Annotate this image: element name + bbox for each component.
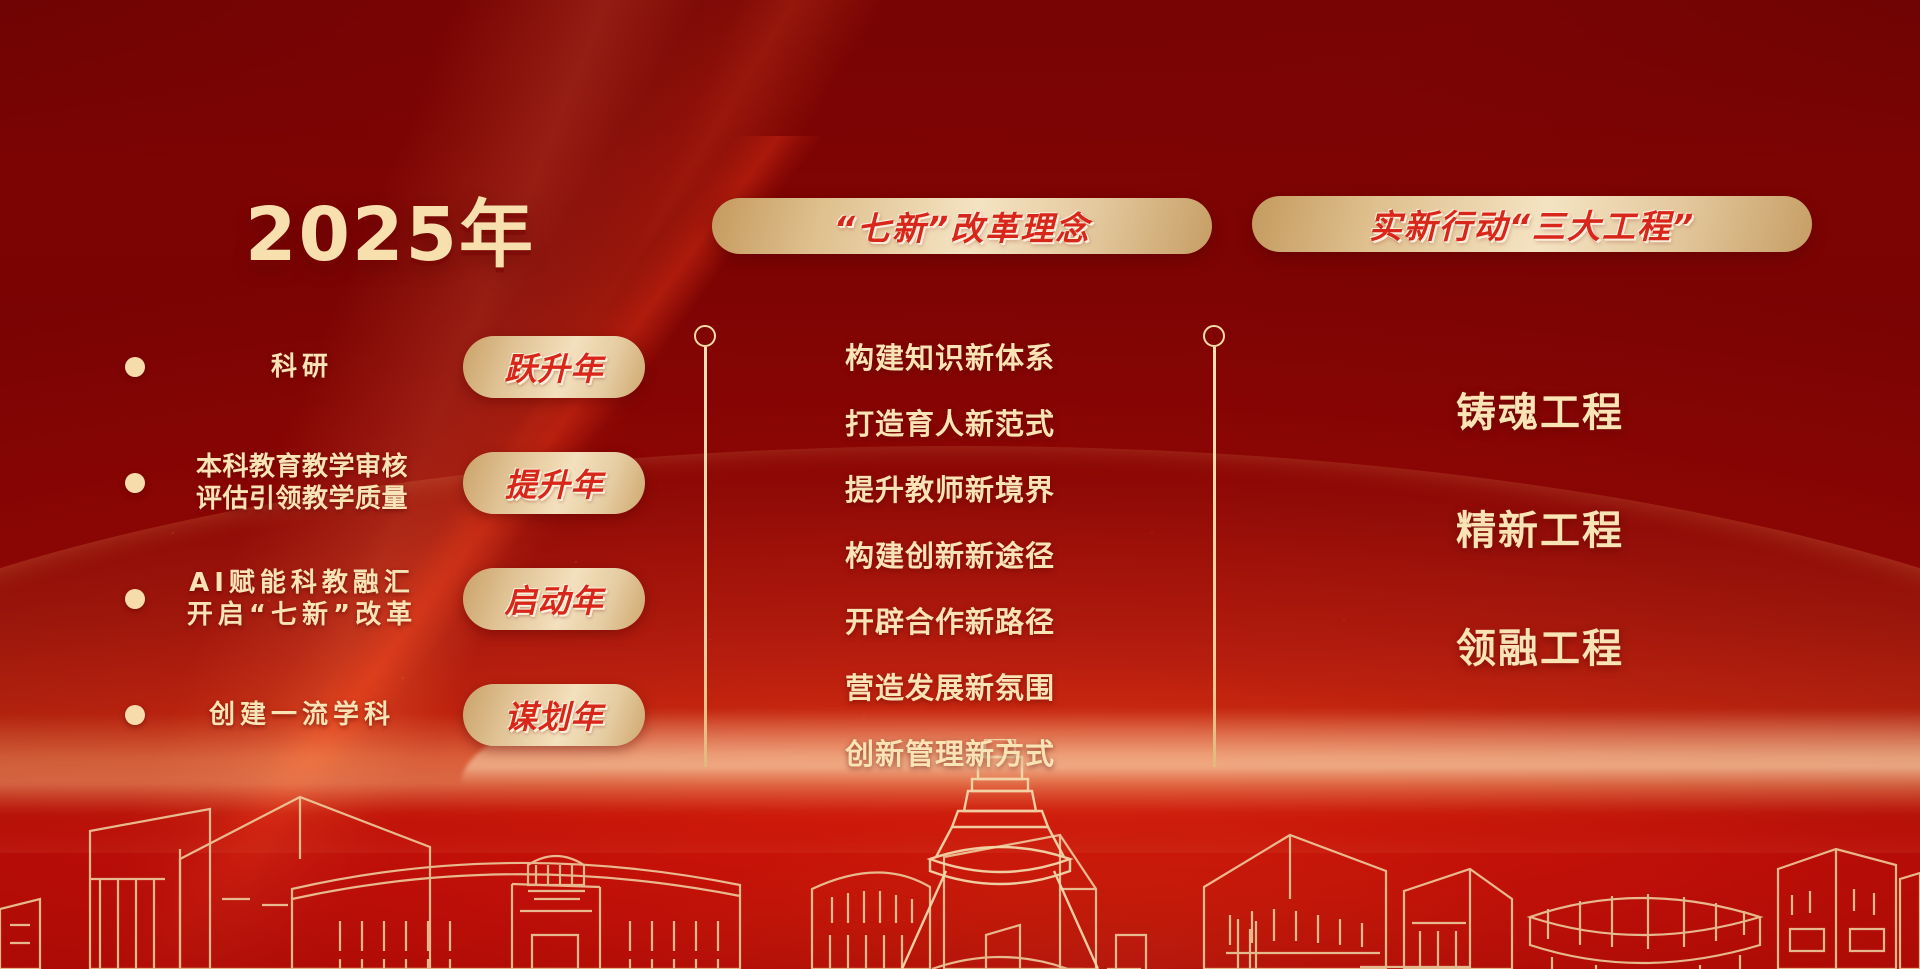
list-item-label: 科研 — [155, 351, 449, 383]
divider-right — [1203, 325, 1225, 767]
list-item[interactable]: 创新管理新方式 — [820, 721, 1080, 787]
list-item[interactable]: 精新工程 — [1400, 503, 1680, 559]
status-badge-label: 跃升年 — [504, 344, 603, 390]
list-item[interactable]: 构建知识新体系 — [820, 325, 1080, 391]
list-item-line2: 评估引领教学质量 — [155, 483, 449, 515]
list-item-line1: 科研 — [155, 351, 449, 383]
list-item[interactable]: 提升教师新境界 — [820, 457, 1080, 523]
list-item[interactable]: 科研 跃升年 — [125, 335, 645, 399]
list-item[interactable]: 打造育人新范式 — [820, 391, 1080, 457]
list-item[interactable]: 领融工程 — [1400, 621, 1680, 677]
list-item-line1: AI赋能科教融汇 — [155, 567, 449, 599]
page-title: 2025年 — [180, 175, 600, 282]
status-badge[interactable]: 提升年 — [463, 452, 645, 514]
middle-column-heading-label: “七新”改革理念 — [834, 202, 1091, 250]
list-item[interactable]: 构建创新新途径 — [820, 523, 1080, 589]
list-item[interactable]: 营造发展新氛围 — [820, 655, 1080, 721]
right-column-heading-label: 实新行动“三大工程” — [1369, 200, 1696, 248]
circle-outline-icon — [694, 325, 716, 347]
status-badge-label: 提升年 — [504, 460, 603, 506]
list-item-line1: 创建一流学科 — [155, 699, 449, 731]
status-badge[interactable]: 跃升年 — [463, 336, 645, 398]
list-item[interactable]: 开辟合作新路径 — [820, 589, 1080, 655]
list-item[interactable]: AI赋能科教融汇 开启“七新”改革 启动年 — [125, 567, 645, 631]
list-item-line2: 开启“七新”改革 — [155, 599, 449, 631]
divider-left — [694, 325, 716, 767]
bullet-icon — [125, 705, 145, 725]
status-badge[interactable]: 启动年 — [463, 568, 645, 630]
left-column-list: 科研 跃升年 本科教育教学审核 评估引领教学质量 提升年 A — [125, 335, 645, 747]
circle-outline-icon — [1203, 325, 1225, 347]
list-item[interactable]: 铸魂工程 — [1400, 385, 1680, 441]
bullet-icon — [125, 357, 145, 377]
bullet-icon — [125, 473, 145, 493]
divider-line — [704, 347, 707, 767]
list-item[interactable]: 创建一流学科 谋划年 — [125, 683, 645, 747]
status-badge[interactable]: 谋划年 — [463, 684, 645, 746]
middle-column-list: 构建知识新体系 打造育人新范式 提升教师新境界 构建创新新途径 开辟合作新路径 … — [820, 325, 1080, 787]
list-item-label: 创建一流学科 — [155, 699, 449, 731]
poster-canvas: 2025年 科研 跃升年 本科教育教学审核 评估引领教学质量 提升年 — [0, 0, 1920, 969]
list-item[interactable]: 本科教育教学审核 评估引领教学质量 提升年 — [125, 451, 645, 515]
middle-column-heading-pill: “七新”改革理念 — [712, 198, 1212, 254]
right-column-heading-pill: 实新行动“三大工程” — [1252, 196, 1812, 252]
status-badge-label: 启动年 — [504, 576, 603, 622]
poster-content: 2025年 科研 跃升年 本科教育教学审核 评估引领教学质量 提升年 — [0, 0, 1920, 969]
divider-line — [1213, 347, 1216, 767]
list-item-label: AI赋能科教融汇 开启“七新”改革 — [155, 567, 449, 631]
list-item-label: 本科教育教学审核 评估引领教学质量 — [155, 451, 449, 515]
right-column-list: 铸魂工程 精新工程 领融工程 — [1400, 385, 1680, 677]
list-item-line1: 本科教育教学审核 — [155, 451, 449, 483]
bullet-icon — [125, 589, 145, 609]
status-badge-label: 谋划年 — [504, 692, 603, 738]
